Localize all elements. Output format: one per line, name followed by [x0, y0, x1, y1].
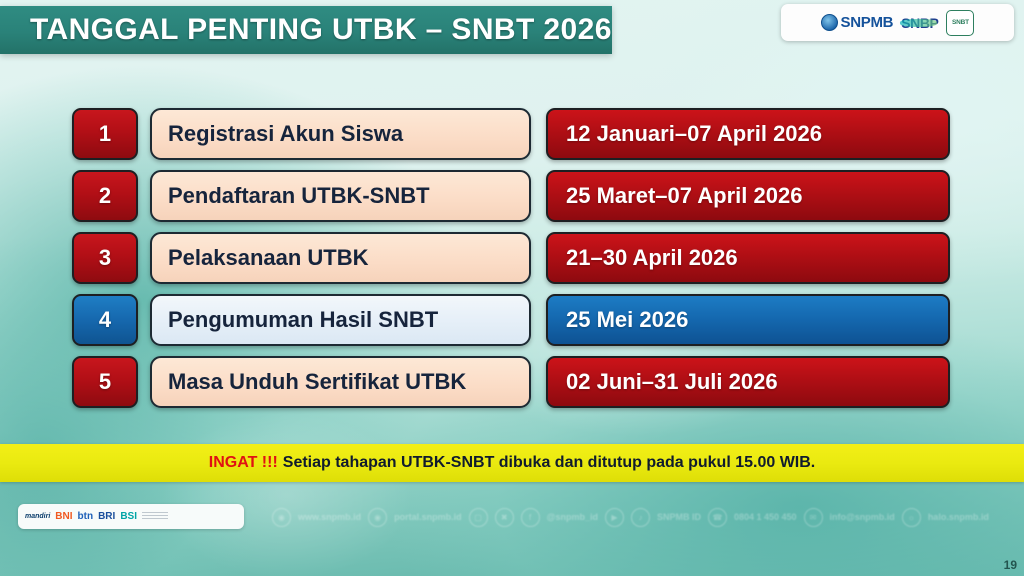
row-date-text: 25 Maret–07 April 2026 — [566, 183, 802, 209]
row-date-box: 02 Juni–31 Juli 2026 — [546, 356, 950, 408]
bank-logo-strip: mandiri BNI btn BRI BSI — [18, 504, 244, 529]
row-label-text: Pengumuman Hasil SNBT — [168, 307, 438, 333]
row-label-text: Pelaksanaan UTBK — [168, 245, 369, 271]
snpmb-seal-icon — [821, 14, 838, 31]
snbp-logo: SNBP — [901, 15, 938, 31]
youtube-icon: ▶ — [605, 508, 624, 527]
bank-logo-mandiri: mandiri — [25, 513, 50, 520]
globe-icon: ◉ — [368, 508, 387, 527]
row-label-box: Pendaftaran UTBK-SNBT — [150, 170, 531, 222]
contact-strip: ◉ www.snpmb.id ◉ portal.snpmb.id ▢ ✖ f @… — [272, 506, 1014, 528]
phone-icon: ☎ — [708, 508, 727, 527]
contact-portal: portal.snpmb.id — [394, 512, 462, 522]
table-row: 2 Pendaftaran UTBK-SNBT 25 Maret–07 Apri… — [72, 172, 950, 220]
bank-logo-bsi: BSI — [120, 511, 137, 522]
row-label-text: Pendaftaran UTBK-SNBT — [168, 183, 430, 209]
table-row: 1 Registrasi Akun Siswa 12 Januari–07 Ap… — [72, 110, 950, 158]
page-title: TANGGAL PENTING UTBK – SNBT 2026 — [30, 13, 612, 47]
table-row-highlighted: 4 Pengumuman Hasil SNBT 25 Mei 2026 — [72, 296, 950, 344]
headset-icon: ☼ — [902, 508, 921, 527]
bank-logo-bni: BNI — [55, 511, 72, 522]
instagram-icon: ▢ — [469, 508, 488, 527]
row-date-text: 02 Juni–31 Juli 2026 — [566, 369, 778, 395]
globe-icon: ◉ — [272, 508, 291, 527]
row-number-badge: 3 — [72, 232, 138, 284]
tiktok-icon: ♪ — [631, 508, 650, 527]
contact-email: info@snpmb.id — [830, 512, 895, 522]
reminder-banner: INGAT !!! Setiap tahapan UTBK-SNBT dibuk… — [0, 444, 1024, 482]
contact-helpdesk: halo.snpmb.id — [928, 512, 989, 522]
slide: TANGGAL PENTING UTBK – SNBT 2026 SNPMB S… — [0, 0, 1024, 576]
title-banner: TANGGAL PENTING UTBK – SNBT 2026 — [0, 6, 612, 54]
bank-logo-btn: btn — [78, 511, 94, 522]
facebook-icon: f — [521, 508, 540, 527]
snpmb-logo-label: SNPMB — [841, 14, 894, 31]
row-date-text: 21–30 April 2026 — [566, 245, 738, 271]
contact-phone: 0804 1 450 450 — [734, 512, 797, 522]
bank-logo-bri: BRI — [98, 511, 115, 522]
x-twitter-icon: ✖ — [495, 508, 514, 527]
snpmb-logo: SNPMB — [821, 14, 894, 31]
bank-strip-caption — [142, 512, 168, 521]
table-row: 5 Masa Unduh Sertifikat UTBK 02 Juni–31 … — [72, 358, 950, 406]
row-date-text: 25 Mei 2026 — [566, 307, 688, 333]
row-date-box: 25 Maret–07 April 2026 — [546, 170, 950, 222]
reminder-text: Setiap tahapan UTBK-SNBT dibuka dan ditu… — [283, 454, 815, 472]
row-label-box: Masa Unduh Sertifikat UTBK — [150, 356, 531, 408]
row-date-box: 21–30 April 2026 — [546, 232, 950, 284]
page-number: 19 — [1004, 558, 1017, 572]
row-number-badge: 1 — [72, 108, 138, 160]
row-number-badge: 2 — [72, 170, 138, 222]
snbp-wave-icon — [900, 19, 937, 27]
reminder-emphasis: INGAT !!! — [209, 454, 278, 472]
row-label-text: Masa Unduh Sertifikat UTBK — [168, 369, 466, 395]
row-number-badge: 4 — [72, 294, 138, 346]
contact-social-handle: @snpmb_id — [547, 512, 598, 522]
footer: mandiri BNI btn BRI BSI ◉ www.snpmb.id ◉… — [0, 482, 1024, 576]
contact-tiktok: SNPMB ID — [657, 512, 701, 522]
row-label-box: Registrasi Akun Siswa — [150, 108, 531, 160]
row-date-text: 12 Januari–07 April 2026 — [566, 121, 822, 147]
row-date-box: 25 Mei 2026 — [546, 294, 950, 346]
contact-website: www.snpmb.id — [298, 512, 361, 522]
row-label-box: Pengumuman Hasil SNBT — [150, 294, 531, 346]
logo-group: SNPMB SNBP SNBT — [781, 4, 1014, 41]
snbt-logo: SNBT — [946, 10, 974, 36]
table-row: 3 Pelaksanaan UTBK 21–30 April 2026 — [72, 234, 950, 282]
row-date-box: 12 Januari–07 April 2026 — [546, 108, 950, 160]
schedule-table: 1 Registrasi Akun Siswa 12 Januari–07 Ap… — [72, 110, 950, 420]
row-label-text: Registrasi Akun Siswa — [168, 121, 403, 147]
row-number-badge: 5 — [72, 356, 138, 408]
row-label-box: Pelaksanaan UTBK — [150, 232, 531, 284]
mail-icon: ✉ — [804, 508, 823, 527]
